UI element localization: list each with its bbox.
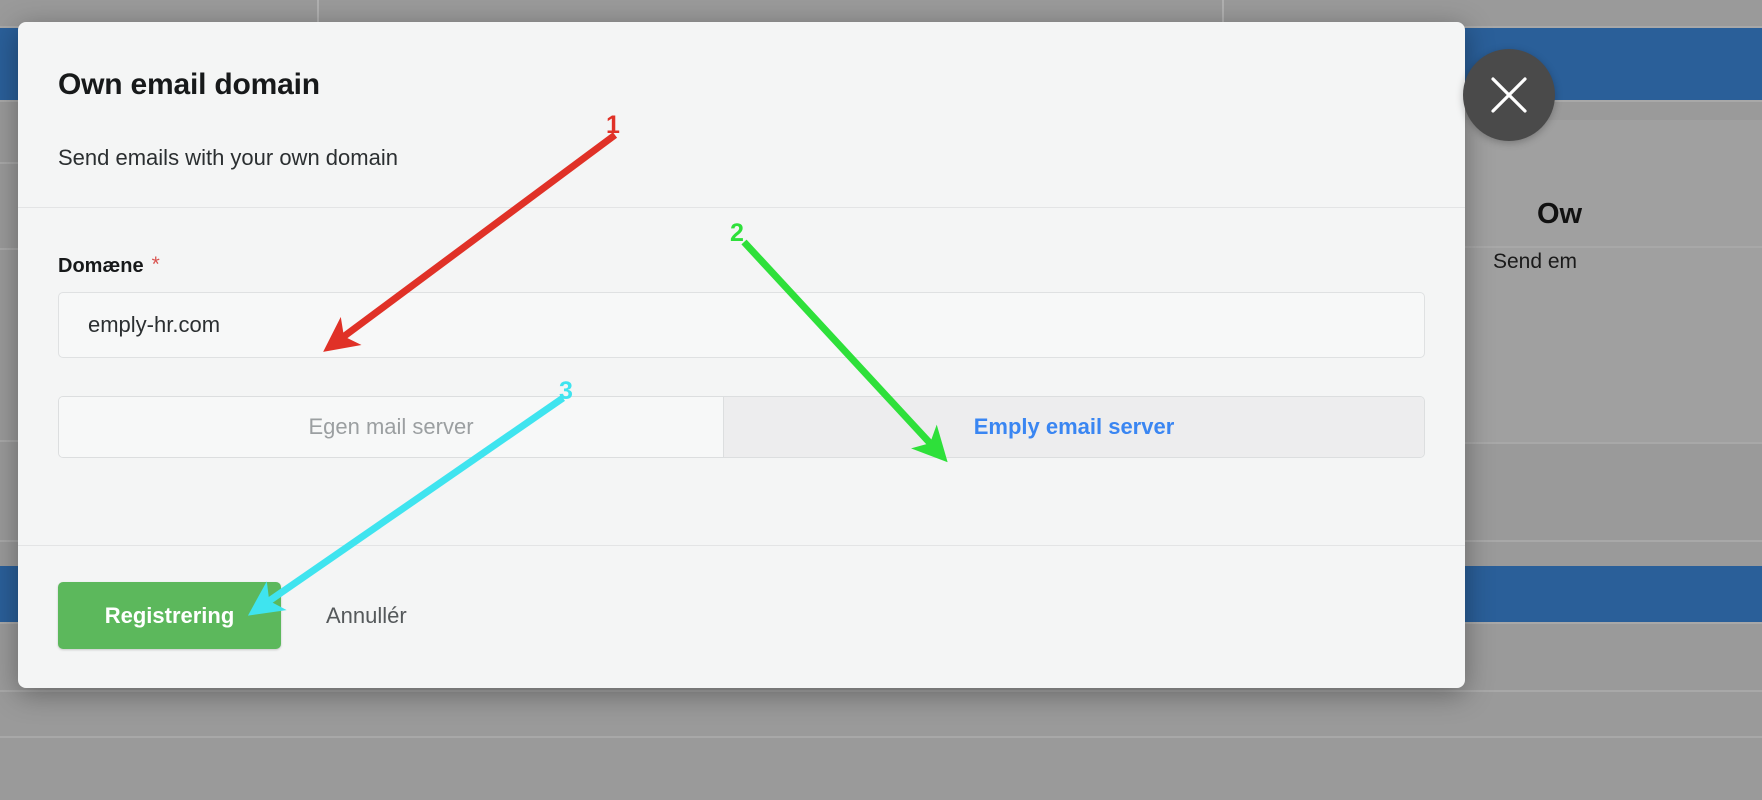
dialog-header: Own email domain Send emails with your o… <box>18 22 1465 208</box>
own-email-domain-dialog: Own email domain Send emails with your o… <box>18 22 1465 688</box>
dialog-footer: Registrering Annullér <box>18 546 1465 649</box>
tab-emply-email-server[interactable]: Emply email server <box>724 397 1424 457</box>
background-rule <box>0 690 1762 692</box>
mail-server-segmented-control: Egen mail server Emply email server <box>58 396 1425 458</box>
close-dialog-button[interactable] <box>1463 49 1555 141</box>
registrering-button[interactable]: Registrering <box>58 582 281 649</box>
close-icon <box>1486 72 1532 118</box>
background-rule <box>0 736 1762 738</box>
dialog-subtitle: Send emails with your own domain <box>58 147 1425 169</box>
tab-egen-mail-server[interactable]: Egen mail server <box>59 397 724 457</box>
dialog-title: Own email domain <box>58 70 1425 100</box>
required-asterisk-icon: * <box>152 256 160 275</box>
dialog-body: Domæne * Egen mail server Emply email se… <box>18 208 1465 546</box>
domain-field-label-row: Domæne * <box>58 208 1425 276</box>
domain-input[interactable] <box>58 292 1425 358</box>
domain-field-label: Domæne <box>58 256 144 276</box>
annuller-button[interactable]: Annullér <box>326 603 407 629</box>
screen-root: Ow Send em Own email domain Send emails … <box>0 0 1762 800</box>
